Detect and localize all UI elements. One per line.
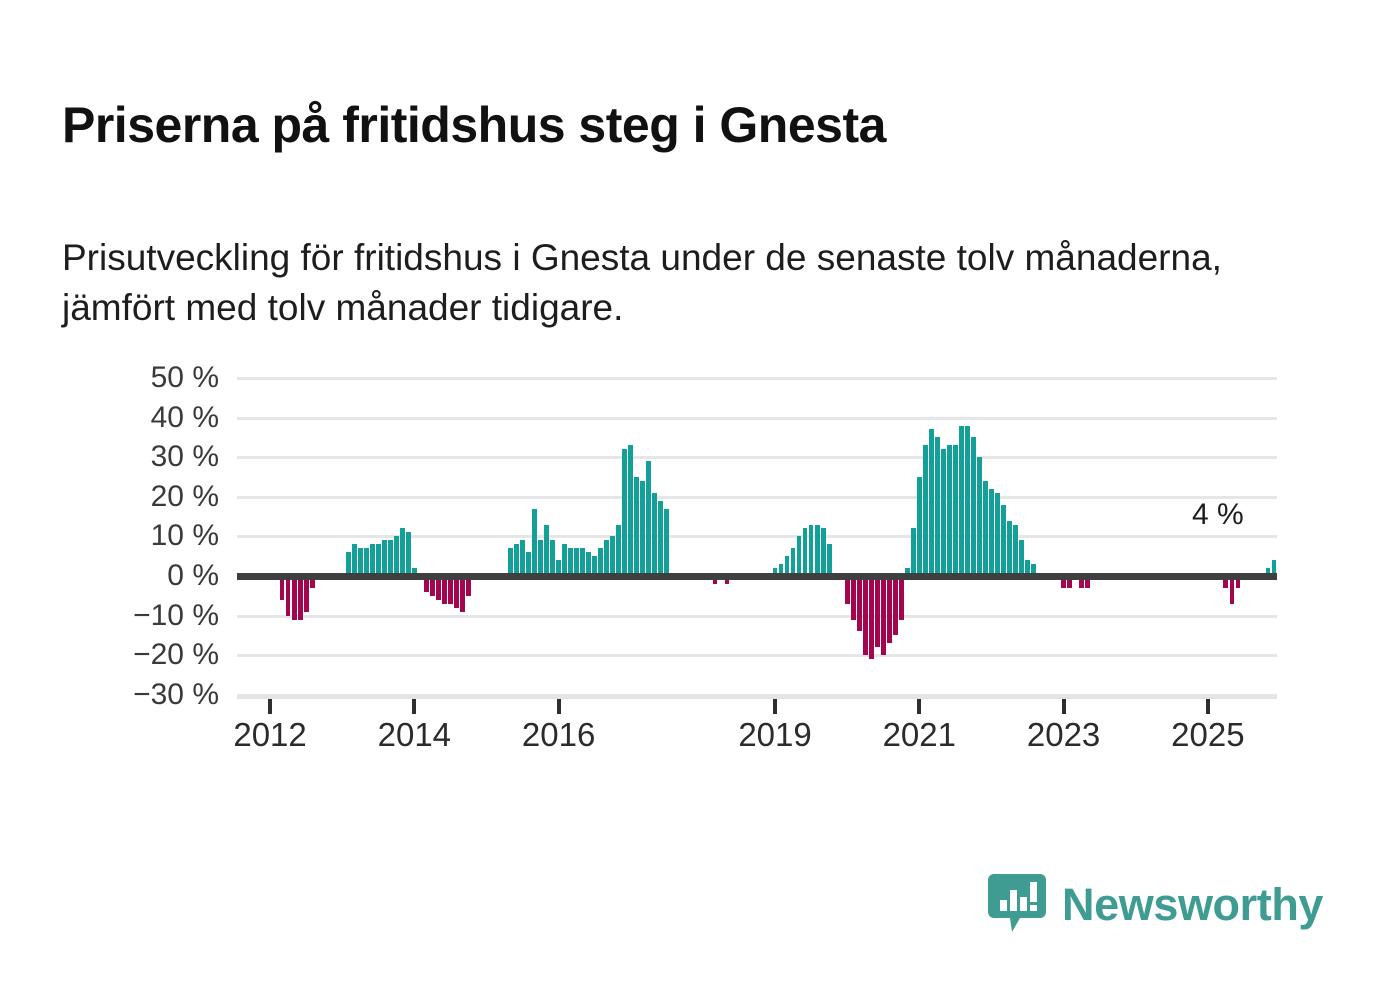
zero-axis-line <box>237 573 1277 580</box>
bar <box>286 576 291 616</box>
y-axis-label: 10 % <box>0 521 219 551</box>
x-axis-tick <box>917 699 921 714</box>
bar <box>652 493 657 576</box>
bar-series <box>237 352 1277 697</box>
bar <box>442 576 447 604</box>
y-axis-label: 30 % <box>0 442 219 472</box>
bar <box>893 576 898 635</box>
bar <box>1230 576 1235 604</box>
bar <box>358 548 363 576</box>
bar <box>298 576 303 620</box>
bar <box>977 457 982 576</box>
bar <box>989 489 994 576</box>
bar <box>640 481 645 576</box>
bar <box>574 548 579 576</box>
x-axis-tick <box>1062 699 1066 714</box>
bar <box>394 536 399 576</box>
page-subtitle: Prisutveckling för fritidshus i Gnesta u… <box>62 233 1332 332</box>
bar <box>370 544 375 576</box>
bar <box>911 528 916 576</box>
bar <box>971 437 976 576</box>
x-axis-label: 2023 <box>984 718 1144 751</box>
x-axis-tick <box>268 699 272 714</box>
bar <box>941 449 946 576</box>
x-axis-label: 2016 <box>479 718 639 751</box>
bar <box>809 525 814 576</box>
bar <box>803 528 808 576</box>
bar <box>532 509 537 576</box>
bar <box>869 576 874 659</box>
bar <box>628 445 633 576</box>
bar <box>304 576 309 612</box>
bar <box>616 525 621 576</box>
y-axis-label: −20 % <box>0 640 219 670</box>
bar <box>887 576 892 643</box>
bar <box>947 445 952 576</box>
bar <box>598 548 603 576</box>
bar <box>953 445 958 576</box>
bar <box>508 548 513 576</box>
speech-bubble-barchart-icon <box>986 872 1048 936</box>
bar <box>514 544 519 576</box>
bar <box>815 525 820 576</box>
bar <box>827 544 832 576</box>
logo-wordmark: Newsworthy <box>1062 882 1323 927</box>
bar <box>959 426 964 576</box>
x-axis-tick <box>1206 699 1210 714</box>
bar <box>917 477 922 576</box>
bar <box>544 525 549 576</box>
y-axis-label: −10 % <box>0 601 219 631</box>
bar <box>983 481 988 576</box>
bar <box>845 576 850 604</box>
x-axis-label: 2014 <box>334 718 494 751</box>
newsworthy-logo: Newsworthy <box>986 872 1323 936</box>
bar <box>454 576 459 608</box>
bar <box>550 540 555 576</box>
bar <box>1007 521 1012 576</box>
bar <box>863 576 868 655</box>
bar <box>460 576 465 612</box>
bar <box>1019 540 1024 576</box>
bar <box>520 540 525 576</box>
x-axis-tick <box>557 699 561 714</box>
x-axis-tick <box>773 699 777 714</box>
y-axis-label: 40 % <box>0 403 219 433</box>
bar <box>899 576 904 620</box>
x-axis-line <box>237 697 1277 699</box>
bar <box>797 536 802 576</box>
bar <box>364 548 369 576</box>
bar <box>851 576 856 620</box>
bar <box>604 540 609 576</box>
bar-chart: 50 %40 %30 %20 %10 %0 %−10 %−20 %−30 % 2… <box>0 352 1382 772</box>
bar <box>646 461 651 576</box>
y-axis-label: 0 % <box>0 561 219 591</box>
bar <box>857 576 862 631</box>
bar <box>658 501 663 576</box>
x-axis-label: 2025 <box>1128 718 1288 751</box>
bar <box>791 548 796 576</box>
bar <box>935 437 940 576</box>
y-axis-label: 20 % <box>0 482 219 512</box>
bar <box>634 477 639 576</box>
x-axis-tick <box>412 699 416 714</box>
bar <box>580 548 585 576</box>
bar <box>568 548 573 576</box>
bar <box>538 540 543 576</box>
bar <box>406 532 411 576</box>
bar <box>388 540 393 576</box>
y-axis-label: −30 % <box>0 680 219 710</box>
x-axis-label: 2019 <box>695 718 855 751</box>
infographic-page: Priserna på fritidshus steg i Gnesta Pri… <box>0 0 1382 999</box>
bar <box>664 509 669 576</box>
bar <box>382 540 387 576</box>
y-axis-label: 50 % <box>0 363 219 393</box>
bar <box>352 544 357 576</box>
x-axis-label: 2012 <box>190 718 350 751</box>
bar <box>1013 525 1018 576</box>
bar <box>448 576 453 604</box>
bar <box>292 576 297 620</box>
plot-area <box>237 352 1277 697</box>
bar <box>881 576 886 655</box>
bar <box>562 544 567 576</box>
bar <box>821 528 826 576</box>
bar <box>400 528 405 576</box>
bar <box>376 544 381 576</box>
bar <box>1001 505 1006 576</box>
bar <box>929 429 934 576</box>
bar <box>995 493 1000 576</box>
bar <box>965 426 970 576</box>
bar <box>622 449 627 576</box>
bar <box>875 576 880 647</box>
x-axis-label: 2021 <box>839 718 999 751</box>
bar <box>923 445 928 576</box>
bar <box>610 536 615 576</box>
page-title: Priserna på fritidshus steg i Gnesta <box>62 98 1322 152</box>
